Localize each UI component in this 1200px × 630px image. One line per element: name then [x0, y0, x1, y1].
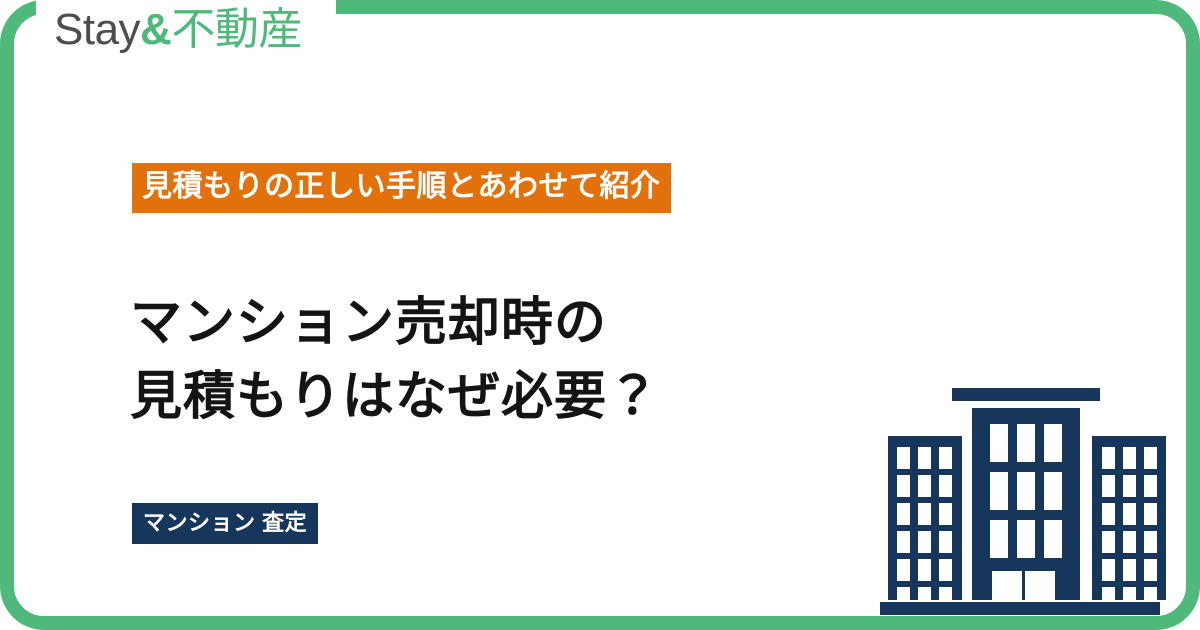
- brand-logo-ampersand: &: [140, 5, 171, 54]
- page-title-line-2: 見積もりはなぜ必要？: [130, 361, 660, 435]
- category-tag[interactable]: マンション 査定: [132, 503, 318, 544]
- right-window: [1123, 503, 1136, 525]
- page-title: マンション売却時の 見積もりはなぜ必要？: [130, 287, 660, 435]
- left-window: [939, 587, 952, 600]
- center-window: [1044, 520, 1062, 558]
- og-card-canvas: Stay&不動産 見積もりの正しい手順とあわせて紹介 マンション売却時の 見積も…: [0, 0, 1200, 630]
- left-window: [918, 559, 931, 581]
- center-window: [1017, 424, 1035, 462]
- entrance-door-left: [992, 571, 1022, 600]
- left-window: [939, 475, 952, 497]
- center-window: [1044, 472, 1062, 510]
- roof-cap: [952, 388, 1100, 401]
- center-window: [1017, 520, 1035, 558]
- brand-logo-latin: Stay: [54, 5, 140, 54]
- left-window: [918, 587, 931, 600]
- center-window: [990, 424, 1008, 462]
- left-window: [939, 447, 952, 469]
- right-window: [1144, 503, 1157, 525]
- right-window: [1102, 447, 1115, 469]
- left-window: [897, 475, 910, 497]
- ground-bar: [880, 602, 1160, 615]
- center-window: [1017, 472, 1035, 510]
- left-window: [918, 475, 931, 497]
- entrance-door-right: [1025, 571, 1055, 600]
- center-window: [1044, 424, 1062, 462]
- left-window: [897, 559, 910, 581]
- right-window: [1144, 559, 1157, 581]
- center-window: [990, 472, 1008, 510]
- right-window: [1123, 587, 1136, 600]
- left-window: [939, 559, 952, 581]
- left-window: [897, 447, 910, 469]
- right-window: [1144, 587, 1157, 600]
- right-window: [1102, 559, 1115, 581]
- eyebrow-badge-label: 見積もりの正しい手順とあわせて紹介: [142, 172, 661, 202]
- center-window: [990, 520, 1008, 558]
- left-window: [897, 531, 910, 553]
- right-window: [1123, 531, 1136, 553]
- brand-logo[interactable]: Stay&不動産: [54, 8, 302, 52]
- left-window: [939, 531, 952, 553]
- left-window: [918, 503, 931, 525]
- right-window: [1123, 475, 1136, 497]
- left-window: [897, 587, 910, 600]
- right-window: [1144, 475, 1157, 497]
- apartment-building-illustration: [868, 380, 1168, 620]
- entrance-divider: [1022, 571, 1025, 600]
- left-window: [918, 531, 931, 553]
- page-title-line-1: マンション売却時の: [130, 287, 660, 361]
- right-window: [1102, 587, 1115, 600]
- left-window: [939, 503, 952, 525]
- right-window: [1144, 447, 1157, 469]
- right-window: [1102, 531, 1115, 553]
- left-window: [918, 447, 931, 469]
- eyebrow-badge: 見積もりの正しい手順とあわせて紹介: [132, 163, 671, 213]
- right-window: [1102, 503, 1115, 525]
- category-tag-label: マンション 査定: [143, 512, 307, 534]
- brand-logo-japanese: 不動産: [171, 5, 302, 54]
- left-window: [897, 503, 910, 525]
- right-window: [1123, 559, 1136, 581]
- right-window: [1144, 531, 1157, 553]
- right-window: [1123, 447, 1136, 469]
- right-window: [1102, 475, 1115, 497]
